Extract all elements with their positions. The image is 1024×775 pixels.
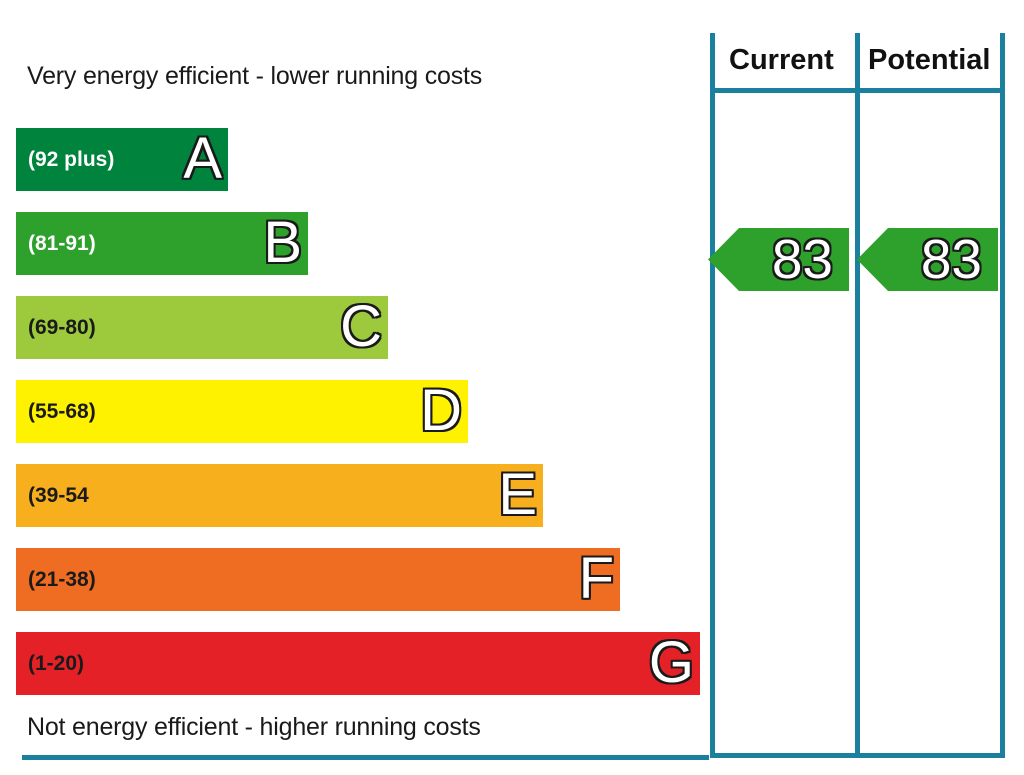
- rating-arrow-current: 83: [708, 228, 849, 291]
- band-letter-g: G: [649, 633, 694, 691]
- band-range-label-e: (39-54: [28, 484, 89, 508]
- column-header-potential: Potential: [868, 44, 990, 77]
- band-bar-g: (1-20)G: [16, 632, 700, 695]
- band-letter-e: E: [498, 465, 537, 523]
- chart-top-caption: Very energy efficient - lower running co…: [27, 62, 482, 91]
- table-bottom-rule: [710, 753, 1005, 758]
- band-bar-a: (92 plus)A: [16, 128, 228, 191]
- band-letter-b: B: [263, 213, 302, 271]
- band-letter-f: F: [579, 549, 614, 607]
- band-bar-f: (21-38)F: [16, 548, 620, 611]
- band-letter-c: C: [340, 297, 382, 355]
- table-left-border: [710, 33, 715, 758]
- column-header-current: Current: [729, 44, 834, 77]
- band-range-label-b: (81-91): [28, 232, 96, 256]
- band-letter-a: A: [183, 129, 222, 187]
- chart-bottom-caption: Not energy efficient - higher running co…: [27, 713, 481, 742]
- table-right-border: [1000, 33, 1005, 758]
- rating-arrow-potential: 83: [857, 228, 998, 291]
- bottom-divider-rule: [22, 755, 709, 760]
- band-bar-e: (39-54E: [16, 464, 543, 527]
- band-range-label-d: (55-68): [28, 400, 96, 424]
- band-bar-d: (55-68)D: [16, 380, 468, 443]
- band-letter-d: D: [420, 381, 462, 439]
- band-range-label-f: (21-38): [28, 568, 96, 592]
- band-range-label-g: (1-20): [28, 652, 84, 676]
- rating-value-potential: 83: [921, 232, 982, 287]
- band-bar-b: (81-91)B: [16, 212, 308, 275]
- band-range-label-c: (69-80): [28, 316, 96, 340]
- table-header-rule: [710, 88, 1005, 93]
- band-bar-c: (69-80)C: [16, 296, 388, 359]
- band-range-label-a: (92 plus): [28, 148, 114, 172]
- rating-value-current: 83: [772, 232, 833, 287]
- table-middle-divider: [855, 33, 860, 758]
- energy-efficiency-rating-chart: Very energy efficient - lower running co…: [0, 0, 1024, 775]
